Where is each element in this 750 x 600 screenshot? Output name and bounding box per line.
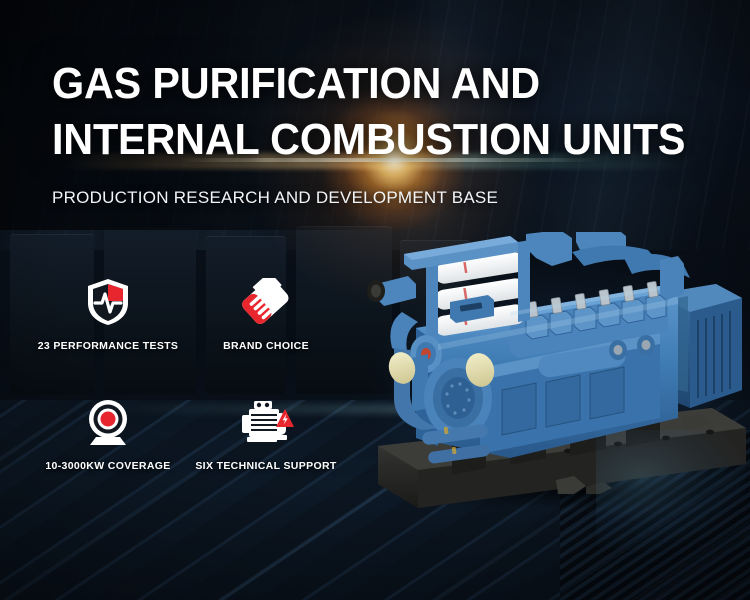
page-title: GAS PURIFICATION AND INTERNAL COMBUSTION… [52, 56, 685, 168]
headline-line-2: INTERNAL COMBUSTION UNITS [52, 112, 685, 168]
feature-label: BRAND CHOICE [186, 340, 346, 352]
feature-row-2: 10-3000KW COVERAGE [28, 396, 348, 516]
feature-label: 10-3000KW COVERAGE [28, 460, 188, 472]
feature-label: 23 PERFORMANCE TESTS [28, 340, 188, 352]
feature-item-brand-choice[interactable]: BRAND CHOICE [186, 276, 346, 352]
feature-item-power-coverage[interactable]: 10-3000KW COVERAGE [28, 396, 188, 472]
feature-row-1: 23 PERFORMANCE TESTS [28, 276, 348, 396]
headline-line-1: GAS PURIFICATION AND [52, 56, 685, 112]
electric-motor-icon [186, 396, 346, 448]
shield-pulse-icon [28, 276, 188, 328]
feature-label: SIX TECHNICAL SUPPORT [186, 460, 346, 472]
handshake-icon [186, 276, 346, 328]
feature-list: 23 PERFORMANCE TESTS [28, 276, 348, 516]
target-gauge-icon [28, 396, 188, 448]
product-light-glint [596, 430, 746, 550]
page-subtitle: PRODUCTION RESEARCH AND DEVELOPMENT BASE [52, 188, 498, 208]
feature-item-technical-support[interactable]: SIX TECHNICAL SUPPORT [186, 396, 346, 472]
hero-banner: GAS PURIFICATION AND INTERNAL COMBUSTION… [0, 0, 750, 600]
feature-item-performance-tests[interactable]: 23 PERFORMANCE TESTS [28, 276, 188, 352]
